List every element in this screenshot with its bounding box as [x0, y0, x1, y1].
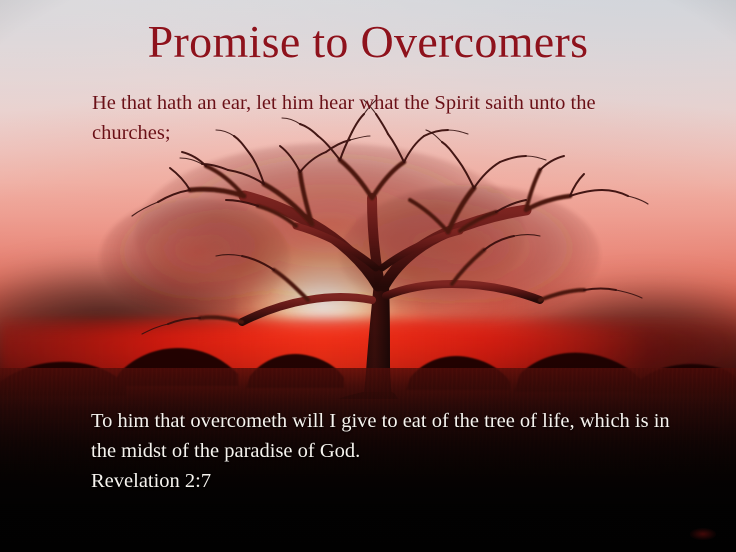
subtitle-text: He that hath an ear, let him hear what t…	[92, 88, 668, 148]
verse-block: To him that overcometh will I give to ea…	[91, 406, 671, 496]
verse-text: To him that overcometh will I give to ea…	[91, 410, 670, 462]
watermark-mark	[690, 528, 716, 540]
verse-reference: Revelation 2:7	[91, 466, 671, 496]
slide-canvas: Promise to Overcomers He that hath an ea…	[0, 0, 736, 552]
page-title: Promise to Overcomers	[0, 18, 736, 66]
